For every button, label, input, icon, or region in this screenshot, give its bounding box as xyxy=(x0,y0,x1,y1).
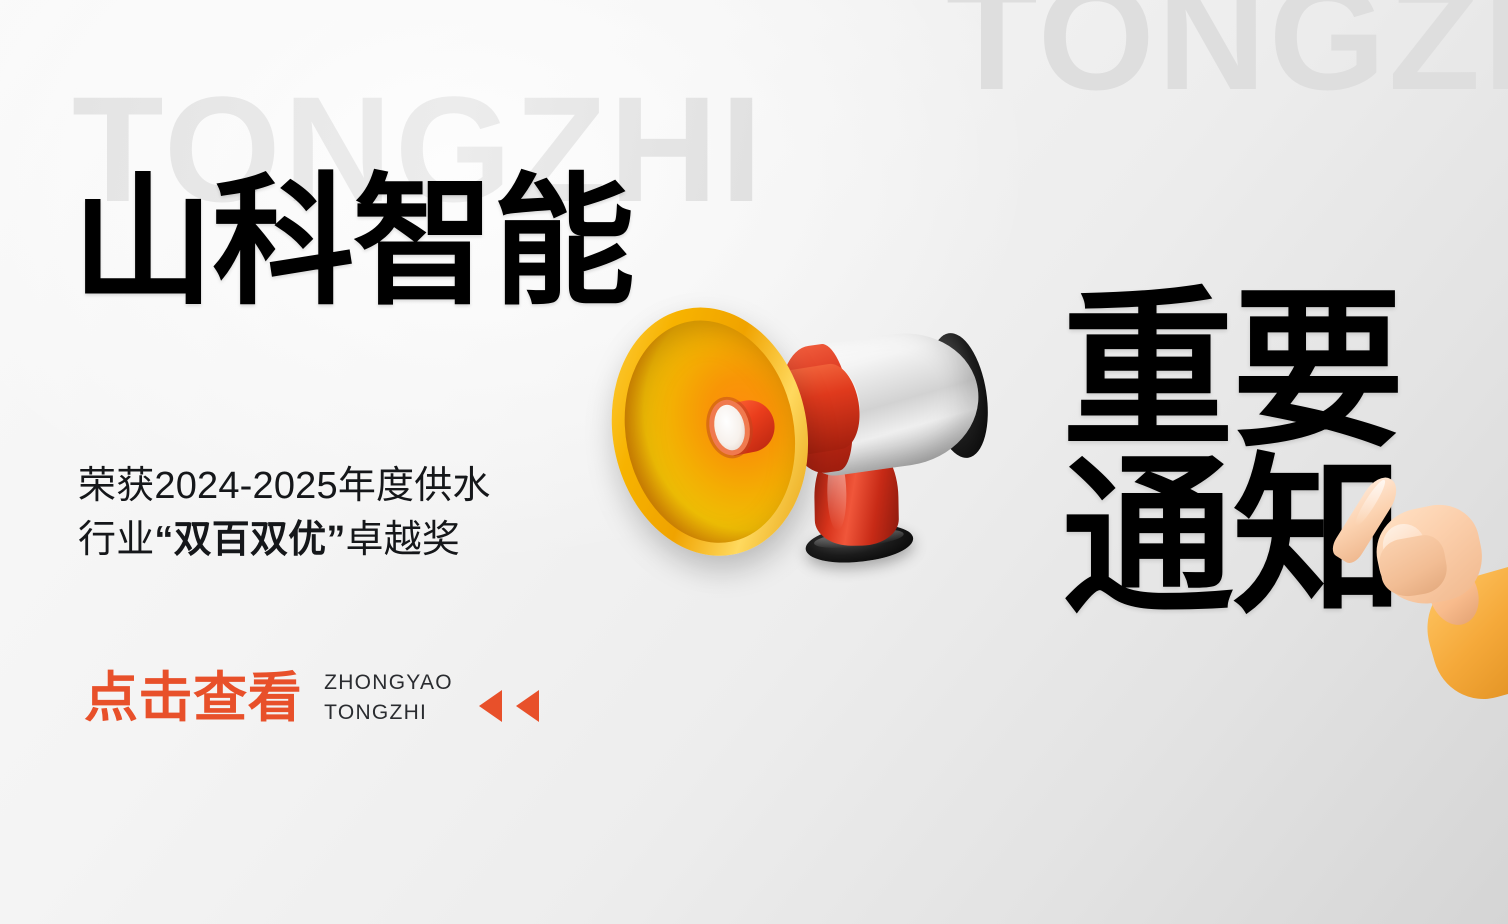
award-subtitle-line-2: 行业“双百双优”卓越奖 xyxy=(78,514,618,568)
pointing-hand-icon xyxy=(1328,474,1508,704)
notice-headline-line-1: 重要 xyxy=(1062,288,1403,455)
page-title: 山科智能 xyxy=(72,172,633,314)
cta-pinyin-line-1: ZHONGYAO xyxy=(324,668,453,698)
watermark-tongzhi-corner: TONGZHI xyxy=(946,0,1508,112)
award-subtitle-emphasis: “双百双优” xyxy=(154,519,345,561)
promo-banner: TONGZHI TONGZHI 山科智能 荣获2024-2025年度供水 行业“… xyxy=(0,0,1508,924)
megaphone-icon xyxy=(596,252,1028,622)
cta-pinyin: ZHONGYAO TONGZHI xyxy=(324,668,453,729)
award-subtitle: 荣获2024-2025年度供水 行业“双百双优”卓越奖 xyxy=(78,460,618,568)
award-subtitle-line-1: 荣获2024-2025年度供水 xyxy=(78,460,618,514)
award-subtitle-prefix: 行业 xyxy=(78,519,154,561)
cta-pinyin-line-2: TONGZHI xyxy=(324,698,453,728)
triangle-left-icon xyxy=(479,690,502,722)
cta-button-label[interactable]: 点击查看 xyxy=(84,671,302,725)
cta-arrows xyxy=(479,674,539,722)
cta-group[interactable]: 点击查看 ZHONGYAO TONGZHI xyxy=(84,668,539,729)
triangle-left-icon xyxy=(516,690,539,722)
award-subtitle-suffix: 卓越奖 xyxy=(346,519,461,561)
